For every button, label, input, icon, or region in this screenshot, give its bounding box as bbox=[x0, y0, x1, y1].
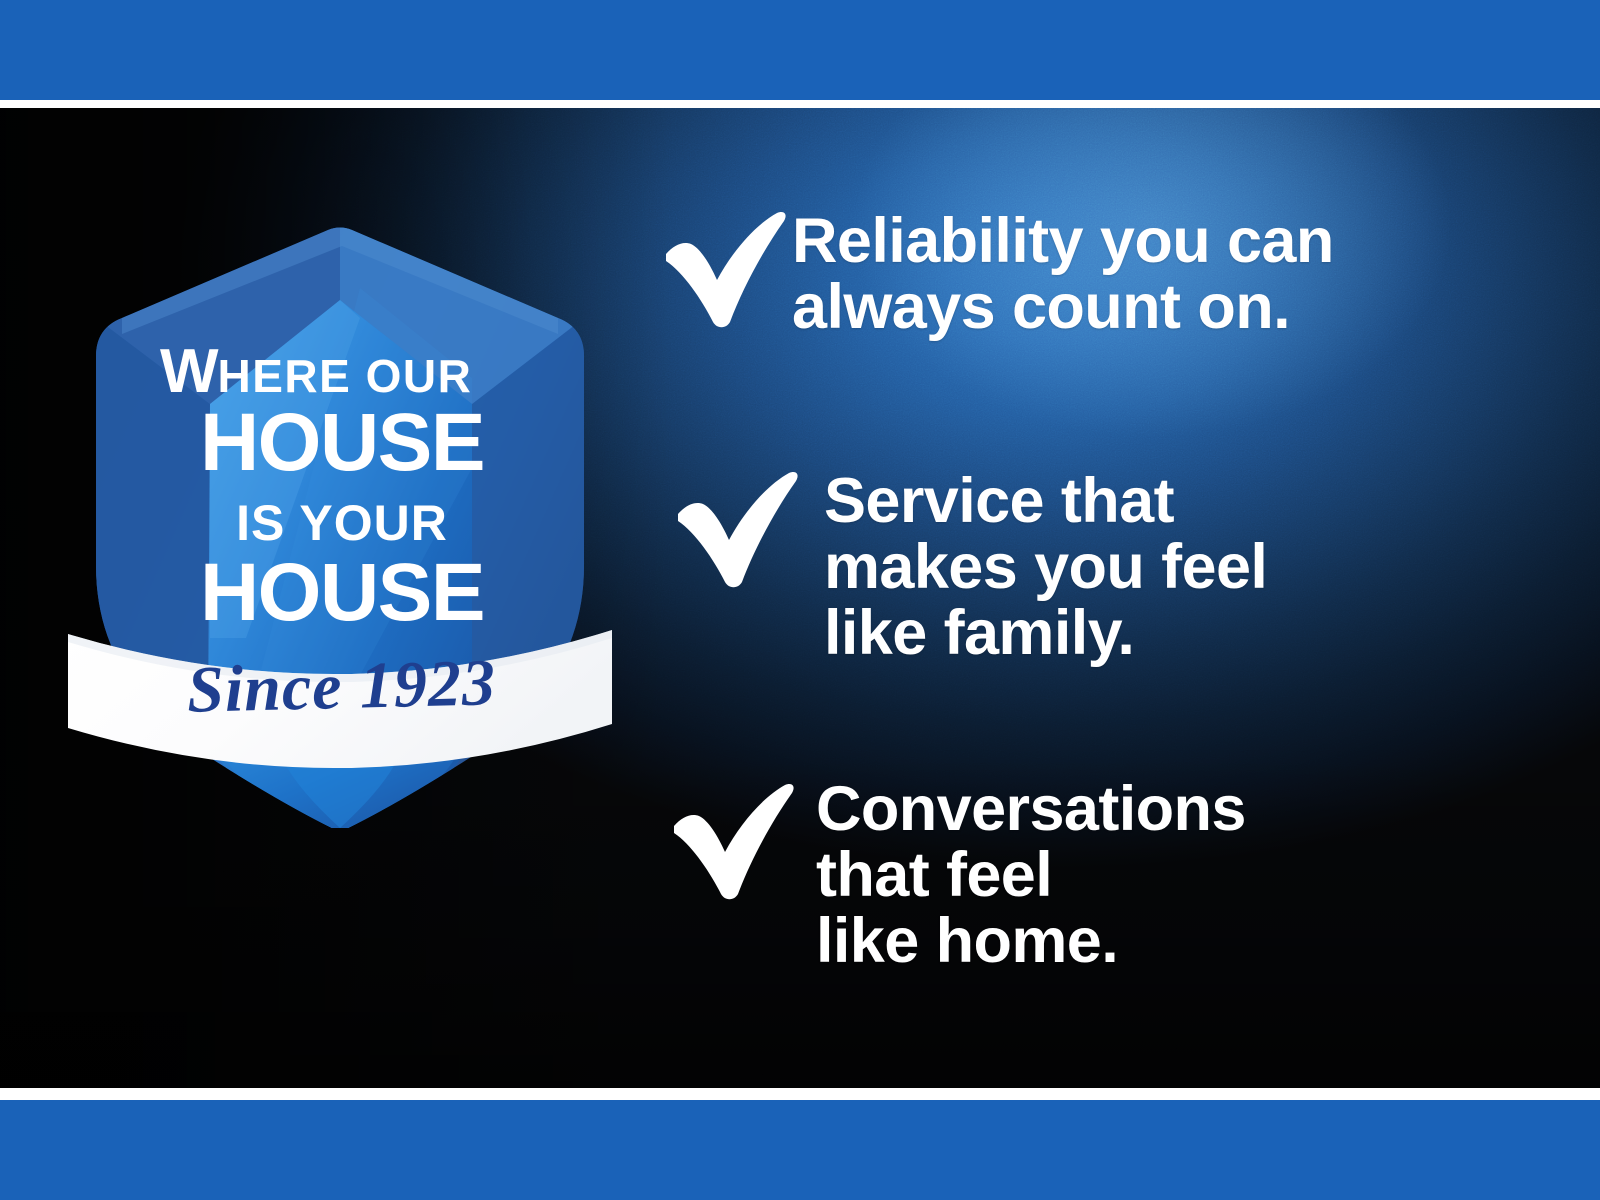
top-brand-bar bbox=[0, 0, 1600, 100]
bottom-brand-bar bbox=[0, 1100, 1600, 1200]
logo-line3: IS YOUR bbox=[236, 495, 448, 551]
check-icon bbox=[660, 210, 792, 328]
shield-text: W HERE OUR HOUSE IS YOUR HOUSE bbox=[160, 337, 484, 638]
check-icon bbox=[672, 470, 804, 588]
benefit-text: Reliability you can always count on. bbox=[792, 204, 1334, 340]
logo-line4: HOUSE bbox=[200, 547, 484, 638]
bottom-white-divider bbox=[0, 1088, 1600, 1100]
shield-logo: W HERE OUR HOUSE IS YOUR HOUSE Since 192… bbox=[60, 168, 620, 828]
banner-canvas: W HERE OUR HOUSE IS YOUR HOUSE Since 192… bbox=[0, 0, 1600, 1200]
logo-line2: HOUSE bbox=[200, 397, 484, 488]
top-white-divider bbox=[0, 100, 1600, 108]
logo-banner-text: Since 1923 bbox=[186, 646, 497, 727]
benefit-item: Conversations that feel like home. bbox=[668, 776, 1246, 974]
logo-dropcap-w: W bbox=[160, 337, 219, 406]
benefit-text: Conversations that feel like home. bbox=[816, 776, 1246, 974]
benefit-item: Service that makes you feel like family. bbox=[672, 464, 1267, 666]
check-icon bbox=[668, 782, 800, 900]
benefit-text: Service that makes you feel like family. bbox=[824, 464, 1267, 666]
logo-line1-rest: HERE OUR bbox=[218, 350, 473, 402]
benefit-item: Reliability you can always count on. bbox=[660, 204, 1334, 340]
benefits-list: Reliability you can always count on. Ser… bbox=[660, 108, 1540, 1088]
